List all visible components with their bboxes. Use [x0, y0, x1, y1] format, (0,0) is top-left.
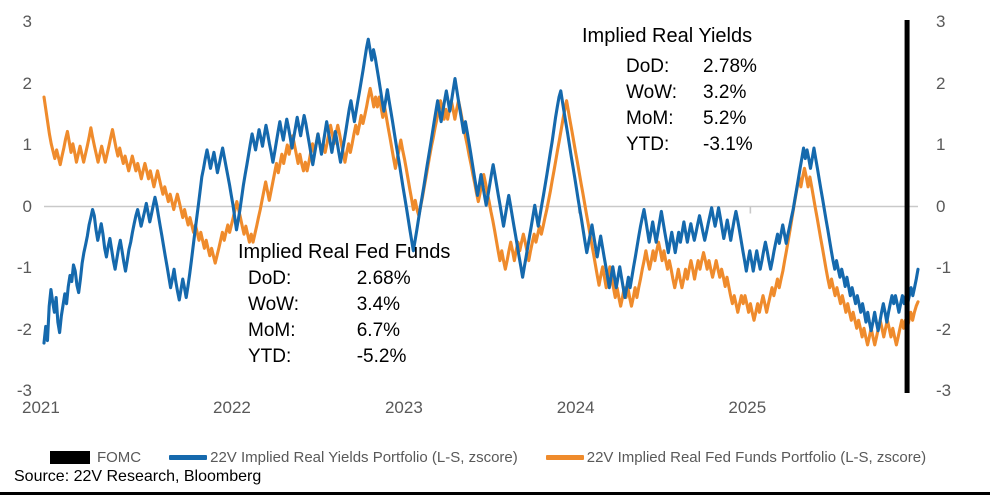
bottom-divider	[0, 492, 990, 495]
y-axis-tick-label-right-0: 0	[936, 197, 972, 217]
y-axis-tick-label-right-2: 2	[936, 74, 972, 94]
annotation-yields-wow-label: WoW:	[626, 80, 687, 106]
annotation-yields-title: Implied Real Yields	[578, 24, 757, 48]
chart-container: 3210-1-2-3 3210-1-2-3 202120222023202420…	[0, 0, 990, 496]
legend-item-label: 22V Implied Real Fed Funds Portfolio (L-…	[587, 449, 926, 466]
chart-legend: FOMC22V Implied Real Yields Portfolio (L…	[0, 444, 990, 470]
annotation-fedfunds-mom-label: MoM:	[248, 318, 349, 344]
annotation-yields-dod-value: 2.78%	[703, 54, 757, 80]
annotation-fedfunds-mom-value: 6.7%	[357, 318, 451, 344]
y-axis-tick-label-right-1: 1	[936, 135, 972, 155]
legend-item-1[interactable]: 22V Implied Real Yields Portfolio (L-S, …	[169, 449, 518, 466]
legend-swatch-line-icon	[169, 455, 207, 460]
y-axis-tick-label-left-3: 3	[0, 12, 32, 32]
annotation-implied-real-yields: Implied Real Yields DoD: 2.78% WoW: 3.2%…	[578, 24, 757, 158]
x-axis-tick-label-2021: 2021	[22, 398, 82, 418]
annotation-yields-ytd-value: -3.1%	[703, 132, 757, 158]
legend-swatch-block-icon	[50, 451, 90, 464]
y-axis-tick-label-left-neg2: -2	[0, 320, 32, 340]
annotation-fedfunds-wow-label: WoW:	[248, 292, 349, 318]
annotation-yields-ytd-label: YTD:	[626, 132, 687, 158]
x-axis-tick-label-2025: 2025	[728, 398, 788, 418]
annotation-fedfunds-rows: DoD: 2.68% WoW: 3.4% MoM: 6.7% YTD: -5.2…	[238, 266, 450, 370]
y-axis-tick-label-left-neg1: -1	[0, 258, 32, 278]
y-axis-tick-label-right-3: 3	[936, 12, 972, 32]
annotation-yields-wow-value: 3.2%	[703, 80, 757, 106]
annotation-fedfunds-ytd-value: -5.2%	[357, 344, 451, 370]
legend-item-0[interactable]: FOMC	[50, 449, 141, 466]
annotation-fedfunds-ytd-label: YTD:	[248, 344, 349, 370]
x-axis-tick-label-2022: 2022	[213, 398, 273, 418]
annotation-yields-mom-value: 5.2%	[703, 106, 757, 132]
x-axis-tick-marks	[235, 207, 750, 214]
annotation-fedfunds-wow-value: 3.4%	[357, 292, 451, 318]
y-axis-tick-label-right-neg1: -1	[936, 258, 972, 278]
y-axis-tick-label-right-neg2: -2	[936, 320, 972, 340]
annotation-fedfunds-dod-label: DoD:	[248, 266, 349, 292]
source-note: Source: 22V Research, Bloomberg	[14, 468, 261, 486]
chart-plot-area	[0, 0, 990, 496]
legend-swatch-line-icon	[546, 455, 584, 460]
x-axis-tick-label-2023: 2023	[385, 398, 445, 418]
x-axis-tick-label-2024: 2024	[557, 398, 617, 418]
annotation-fedfunds-title: Implied Real Fed Funds	[238, 240, 450, 264]
legend-item-label: FOMC	[97, 449, 141, 466]
annotation-implied-real-fed-funds: Implied Real Fed Funds DoD: 2.68% WoW: 3…	[238, 240, 450, 370]
legend-item-2[interactable]: 22V Implied Real Fed Funds Portfolio (L-…	[546, 449, 926, 466]
y-axis-tick-label-right-neg3: -3	[936, 381, 972, 401]
y-axis-tick-label-left-1: 1	[0, 135, 32, 155]
series-line-fed-funds	[44, 88, 918, 344]
legend-item-label: 22V Implied Real Yields Portfolio (L-S, …	[210, 449, 518, 466]
y-axis-tick-label-left-0: 0	[0, 197, 32, 217]
annotation-yields-rows: DoD: 2.78% WoW: 3.2% MoM: 5.2% YTD: -3.1…	[578, 54, 757, 158]
annotation-yields-dod-label: DoD:	[626, 54, 687, 80]
y-axis-tick-label-left-2: 2	[0, 74, 32, 94]
annotation-fedfunds-dod-value: 2.68%	[357, 266, 451, 292]
annotation-yields-mom-label: MoM:	[626, 106, 687, 132]
